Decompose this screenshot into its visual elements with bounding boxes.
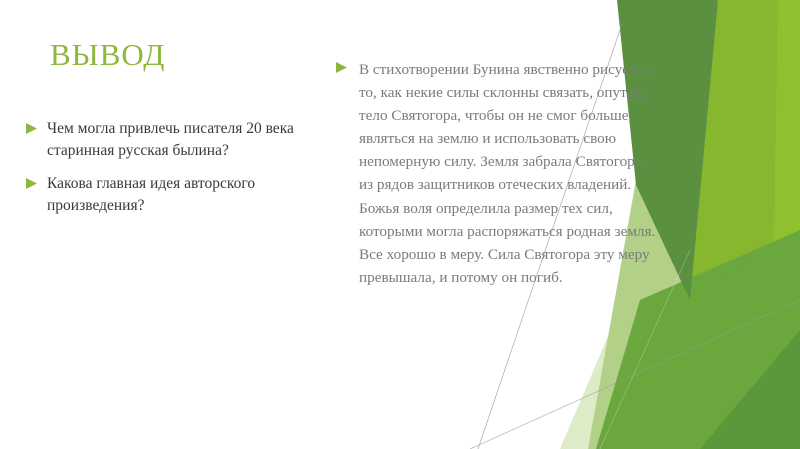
dark-green-bottom-wedge [700,330,800,449]
list-item-text: В стихотворении Бунина явственно рисуетс… [359,58,658,289]
slide-title: ВЫВОД [50,38,165,72]
triangle-right-icon [26,178,38,189]
bright-green-sliver [770,0,800,449]
list-item: В стихотворении Бунина явственно рисуетс… [336,58,658,289]
mid-green-mid-wedge [690,230,800,360]
list-item-text: Какова главная идея авторского произведе… [47,173,326,217]
slide-canvas: ВЫВОД Чем могла привлечь писателя 20 век… [0,0,800,449]
triangle-right-icon [26,123,38,134]
bright-green-band-right [660,0,800,449]
list-item: Чем могла привлечь писателя 20 века стар… [26,118,326,162]
left-bullet-list: Чем могла привлечь писателя 20 века стар… [26,118,326,228]
hairline-diagonal-shallow [470,300,800,449]
right-bullet-list: В стихотворении Бунина явственно рисуетс… [336,58,658,300]
list-item-text: Чем могла привлечь писателя 20 века стар… [47,118,326,162]
triangle-right-icon [336,62,348,73]
list-item: Какова главная идея авторского произведе… [26,173,326,217]
